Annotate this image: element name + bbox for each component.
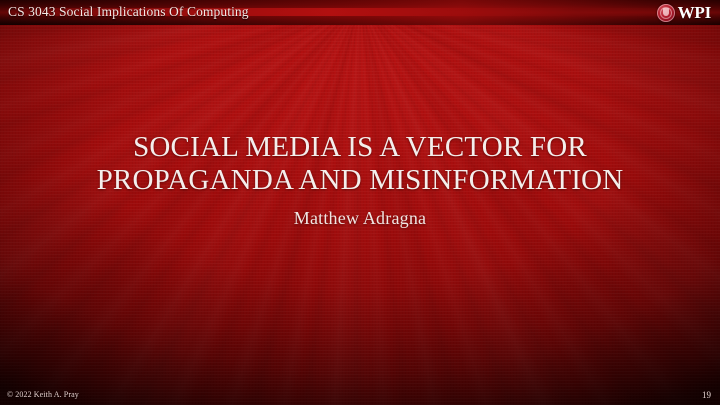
slide-content: SOCIAL MEDIA IS A VECTOR FOR PROPAGANDA … [0,25,720,380]
title-block: SOCIAL MEDIA IS A VECTOR FOR PROPAGANDA … [40,131,680,229]
slide-subtitle-author: Matthew Adragna [40,207,680,229]
footer-copyright: © 2022 Keith A. Pray [7,389,79,400]
footer-page-number: 19 [702,389,711,401]
slide-header-bar: CS 3043 Social Implications Of Computing… [0,0,720,25]
wpi-wordmark-text: WPI [678,4,711,22]
presentation-slide: CS 3043 Social Implications Of Computing… [0,0,720,405]
wpi-seal-icon [657,4,675,22]
course-title-text: CS 3043 Social Implications Of Computing [8,2,249,22]
wpi-logo: WPI [657,2,711,23]
slide-title: SOCIAL MEDIA IS A VECTOR FOR PROPAGANDA … [40,131,680,197]
